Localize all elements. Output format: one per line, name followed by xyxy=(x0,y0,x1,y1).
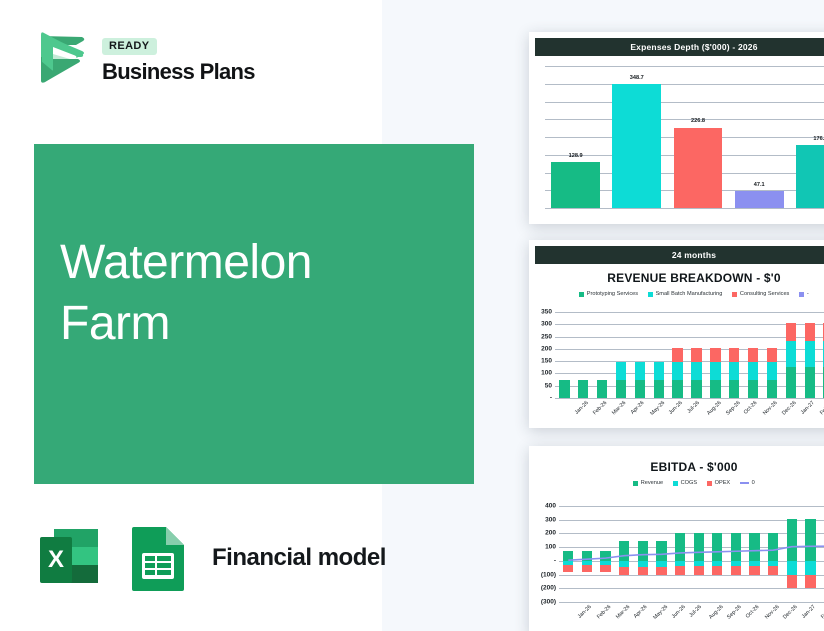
x-axis-tick: Jun-26 xyxy=(668,400,684,416)
play-triangle-icon xyxy=(30,27,92,89)
bar-segment xyxy=(563,551,573,561)
chart-plot-expenses: 128.9348.7226.847.1176.5 xyxy=(545,66,824,208)
bar xyxy=(551,162,600,208)
bar-segment xyxy=(656,541,666,561)
legend-item: Small Batch Manufacturing xyxy=(648,291,722,297)
footer-row: X Financial model xyxy=(30,519,386,597)
chart-card-ebitda: EBITDA - $'000 RevenueCOGSOPEX0 40030020… xyxy=(529,446,824,631)
y-axis-tick: 50 xyxy=(545,382,552,389)
chart-legend-ebitda: RevenueCOGSOPEX0 xyxy=(529,480,824,486)
x-axis-tick: Oct-26 xyxy=(743,400,759,416)
gridline xyxy=(555,398,824,399)
x-axis-tick: Mar-26 xyxy=(615,604,631,620)
bar-segment xyxy=(767,380,777,398)
svg-text:X: X xyxy=(48,546,64,573)
legend-item: 0 xyxy=(740,480,755,486)
bar-segment xyxy=(767,362,777,379)
x-axis-tick: Jan-27 xyxy=(800,400,816,416)
legend-swatch xyxy=(648,292,653,297)
legend-swatch xyxy=(633,481,638,486)
legend-swatch xyxy=(732,292,737,297)
chart-title-revenue: REVENUE BREAKDOWN - $'0 xyxy=(529,271,824,285)
bar-segment xyxy=(787,561,797,575)
brand-lockup: READY Business Plans xyxy=(30,27,255,89)
legend-swatch xyxy=(673,481,678,486)
chart-header-expenses: Expenses Depth ($'000) - 2026 xyxy=(535,38,824,56)
bar-segment xyxy=(597,380,607,398)
chart-plot-ebitda: 400300200100-(100)(200)(300)Jan-26Feb-26… xyxy=(559,506,824,602)
microsoft-excel-icon: X xyxy=(30,519,108,597)
gridline xyxy=(555,337,824,338)
x-axis-tick: Jan-26 xyxy=(573,400,589,416)
bar-segment xyxy=(767,348,777,363)
legend-swatch xyxy=(740,482,749,484)
legend-label: Revenue xyxy=(641,480,663,486)
bar-segment xyxy=(768,533,778,561)
bar-segment xyxy=(619,541,629,561)
bar-segment xyxy=(691,348,701,363)
x-axis-tick: Nov-26 xyxy=(764,604,781,621)
bar-segment xyxy=(563,565,573,572)
y-axis-tick: (100) xyxy=(541,571,556,578)
bar xyxy=(796,145,824,208)
x-axis-tick: Feb-26 xyxy=(596,604,612,620)
y-axis-tick: 100 xyxy=(545,544,556,551)
y-axis-tick: 250 xyxy=(541,333,552,340)
gridline xyxy=(559,533,824,534)
bar-segment xyxy=(710,380,720,398)
chart-legend-revenue: Prototyping ServicesSmall Batch Manufact… xyxy=(529,291,824,297)
gridline xyxy=(545,119,824,120)
google-sheets-icon xyxy=(124,519,192,597)
x-axis-tick: Feb-26 xyxy=(592,400,608,416)
bar-segment xyxy=(805,367,815,398)
chart-plot-revenue: 35030025020015010050-Jan-26Feb-26Mar-26A… xyxy=(555,312,824,398)
legend-label: COGS xyxy=(681,480,697,486)
bar-segment xyxy=(672,380,682,398)
gridline xyxy=(559,520,824,521)
gridline xyxy=(545,84,824,85)
chart-title-ebitda: EBITDA - $'000 xyxy=(529,460,824,474)
brand-text-block: READY Business Plans xyxy=(102,34,255,83)
bar-segment xyxy=(675,566,685,574)
bar xyxy=(612,84,661,208)
bar-segment xyxy=(748,362,758,379)
bar-segment xyxy=(805,323,815,341)
legend-item: - xyxy=(799,291,808,297)
gridline xyxy=(545,208,824,209)
bar-segment xyxy=(712,533,722,561)
bar-segment xyxy=(731,533,741,561)
bar-segment xyxy=(710,348,720,363)
legend-label: 0 xyxy=(752,480,755,486)
document-title-line2: Farm xyxy=(60,293,312,354)
gridline xyxy=(559,588,824,589)
bar-segment xyxy=(749,533,759,561)
bar-segment xyxy=(786,341,796,367)
gridline xyxy=(559,602,824,603)
bar-value-label: 47.1 xyxy=(754,182,765,188)
gridline xyxy=(555,312,824,313)
gridline xyxy=(559,506,824,507)
y-axis-tick: 150 xyxy=(541,358,552,365)
bar-value-label: 128.9 xyxy=(569,153,583,159)
bar-segment xyxy=(768,566,778,574)
y-axis-tick: (200) xyxy=(541,585,556,592)
x-axis-tick: Feb-27 xyxy=(820,604,824,620)
bar-segment xyxy=(694,566,704,574)
y-axis-tick: 200 xyxy=(545,530,556,537)
chart-header-revenue: 24 months xyxy=(535,246,824,264)
gridline xyxy=(559,561,824,562)
bar-segment xyxy=(787,575,797,587)
footer-label: Financial model xyxy=(212,544,386,572)
gridline xyxy=(555,386,824,387)
bar-segment xyxy=(672,348,682,363)
x-axis-tick: Apr-26 xyxy=(630,400,646,416)
x-axis-tick: Jan-26 xyxy=(577,604,593,620)
bar-segment xyxy=(672,362,682,379)
bar-segment xyxy=(805,575,815,587)
x-axis-tick: Sep-26 xyxy=(726,604,743,621)
gridline xyxy=(545,66,824,67)
legend-label: - xyxy=(807,291,809,297)
bar-segment xyxy=(600,565,610,572)
bar-segment xyxy=(635,380,645,398)
bar-segment xyxy=(578,380,588,398)
bar-segment xyxy=(786,323,796,341)
x-axis-tick: Aug-26 xyxy=(708,604,725,621)
bar-segment xyxy=(749,566,759,574)
gridline xyxy=(555,361,824,362)
bar-segment xyxy=(638,541,648,561)
legend-swatch xyxy=(799,292,804,297)
x-axis-tick: Mar-26 xyxy=(611,400,627,416)
x-axis-tick: Jul-26 xyxy=(688,604,703,619)
brand-name: Business Plans xyxy=(102,61,255,83)
y-axis-tick: 100 xyxy=(541,370,552,377)
legend-label: Consulting Services xyxy=(740,291,789,297)
x-axis-tick: May-26 xyxy=(652,604,669,621)
bar-segment xyxy=(729,380,739,398)
y-axis-tick: 350 xyxy=(541,309,552,316)
ready-badge: READY xyxy=(102,38,157,55)
bar-segment xyxy=(616,362,626,379)
x-axis-tick: Sep-26 xyxy=(725,400,742,417)
chart-card-revenue: 24 months REVENUE BREAKDOWN - $'0 Protot… xyxy=(529,240,824,428)
x-axis-tick: Aug-26 xyxy=(706,400,723,417)
x-axis-tick: Jul-26 xyxy=(686,400,701,415)
bar-segment xyxy=(712,566,722,574)
y-axis-tick: - xyxy=(550,395,552,402)
bar-segment xyxy=(654,362,664,379)
bar xyxy=(735,191,784,208)
bar-segment xyxy=(731,566,741,574)
chart-card-expenses: Expenses Depth ($'000) - 2026 128.9348.7… xyxy=(529,32,824,224)
y-axis-tick: - xyxy=(554,557,556,564)
bar-segment xyxy=(616,380,626,398)
bar-segment xyxy=(805,561,815,575)
bar-segment xyxy=(638,567,648,575)
legend-swatch xyxy=(579,292,584,297)
bar-segment xyxy=(729,348,739,363)
legend-label: OPEX xyxy=(715,480,731,486)
x-axis-tick: Jan-27 xyxy=(801,604,817,620)
bar-segment xyxy=(600,551,610,561)
legend-item: COGS xyxy=(673,480,697,486)
x-axis-tick: Jun-26 xyxy=(670,604,686,620)
legend-item: Prototyping Services xyxy=(579,291,638,297)
gridline xyxy=(555,324,824,325)
legend-item: OPEX xyxy=(707,480,730,486)
bar-segment xyxy=(654,380,664,398)
bar-segment xyxy=(559,380,569,398)
x-axis-tick: May-26 xyxy=(649,400,666,417)
bar-segment xyxy=(786,367,796,398)
bar-segment xyxy=(619,567,629,575)
bar-segment xyxy=(748,348,758,363)
document-title-line1: Watermelon xyxy=(60,232,312,293)
y-axis-tick: 300 xyxy=(541,321,552,328)
y-axis-tick: (300) xyxy=(541,599,556,606)
legend-label: Prototyping Services xyxy=(587,291,638,297)
bar-segment xyxy=(748,380,758,398)
y-axis-tick: 400 xyxy=(545,503,556,510)
bar-value-label: 348.7 xyxy=(630,75,644,81)
bar-segment xyxy=(787,519,797,561)
bar-segment xyxy=(691,380,701,398)
legend-swatch xyxy=(707,481,712,486)
bar-segment xyxy=(582,565,592,572)
y-axis-tick: 200 xyxy=(541,345,552,352)
bar-segment xyxy=(805,519,815,561)
legend-item: Revenue xyxy=(633,480,663,486)
gridline xyxy=(559,547,824,548)
x-axis-tick: Feb-27 xyxy=(819,400,824,416)
x-axis-tick: Dec-26 xyxy=(782,604,799,621)
y-axis-tick: 300 xyxy=(545,516,556,523)
x-axis-tick: Apr-26 xyxy=(633,604,649,620)
bar-segment xyxy=(729,362,739,379)
x-axis-tick: Nov-26 xyxy=(762,400,779,417)
bar-segment xyxy=(656,567,666,575)
gridline xyxy=(545,102,824,103)
bar-segment xyxy=(675,533,685,561)
gridline xyxy=(555,373,824,374)
bar-segment xyxy=(805,341,815,367)
legend-item: Consulting Services xyxy=(732,291,789,297)
gridline xyxy=(559,575,824,576)
bar-segment xyxy=(635,362,645,379)
bar-value-label: 176.5 xyxy=(813,136,824,142)
bar xyxy=(674,128,723,209)
bar-segment xyxy=(582,551,592,561)
x-axis-tick: Dec-26 xyxy=(781,400,798,417)
gridline xyxy=(555,349,824,350)
bar-segment xyxy=(694,533,704,561)
bar-segment xyxy=(691,362,701,379)
legend-label: Small Batch Manufacturing xyxy=(656,291,723,297)
document-title: Watermelon Farm xyxy=(60,232,312,355)
bar-segment xyxy=(710,362,720,379)
bar-value-label: 226.8 xyxy=(691,118,705,124)
title-banner: Watermelon Farm xyxy=(34,144,474,484)
x-axis-tick: Oct-26 xyxy=(745,604,761,620)
